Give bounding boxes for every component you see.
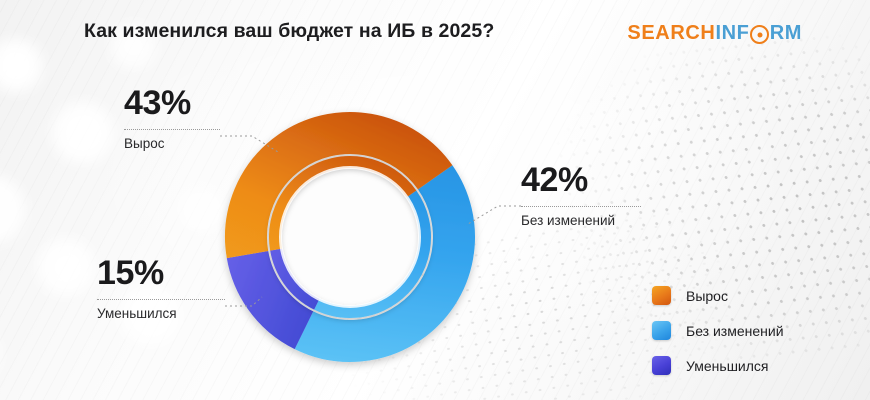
callout-grew-value: 43%	[124, 86, 220, 120]
callout-same-value: 42%	[521, 163, 641, 197]
legend-label-grew: Вырос	[686, 288, 728, 304]
legend-label-same: Без изменений	[686, 323, 784, 339]
callout-shrank-label: Уменьшился	[97, 307, 225, 321]
callout-grew: 43% Вырос	[124, 86, 220, 151]
callout-shrank-value: 15%	[97, 256, 225, 290]
legend-label-shrank: Уменьшился	[686, 358, 769, 374]
callout-shrank: 15% Уменьшился	[97, 256, 225, 321]
chart-legend: Вырос Без изменений Уменьшился	[652, 278, 784, 383]
legend-item-shrank[interactable]: Уменьшился	[652, 348, 784, 383]
legend-swatch-grew	[652, 286, 671, 305]
legend-item-grew[interactable]: Вырос	[652, 278, 784, 313]
callout-grew-divider	[124, 129, 220, 130]
callout-shrank-divider	[97, 299, 225, 300]
legend-swatch-shrank	[652, 356, 671, 375]
callout-same: 42% Без изменений	[521, 163, 641, 228]
callout-same-divider	[521, 206, 641, 207]
legend-swatch-same	[652, 321, 671, 340]
callout-same-label: Без изменений	[521, 214, 641, 228]
leader-line-grew	[220, 136, 278, 152]
leader-line-same	[468, 206, 521, 224]
legend-item-same[interactable]: Без изменений	[652, 313, 784, 348]
leader-line-shrank	[225, 297, 262, 306]
infographic-canvas: Как изменился ваш бюджет на ИБ в 2025? S…	[0, 0, 870, 400]
callout-grew-label: Вырос	[124, 137, 220, 151]
